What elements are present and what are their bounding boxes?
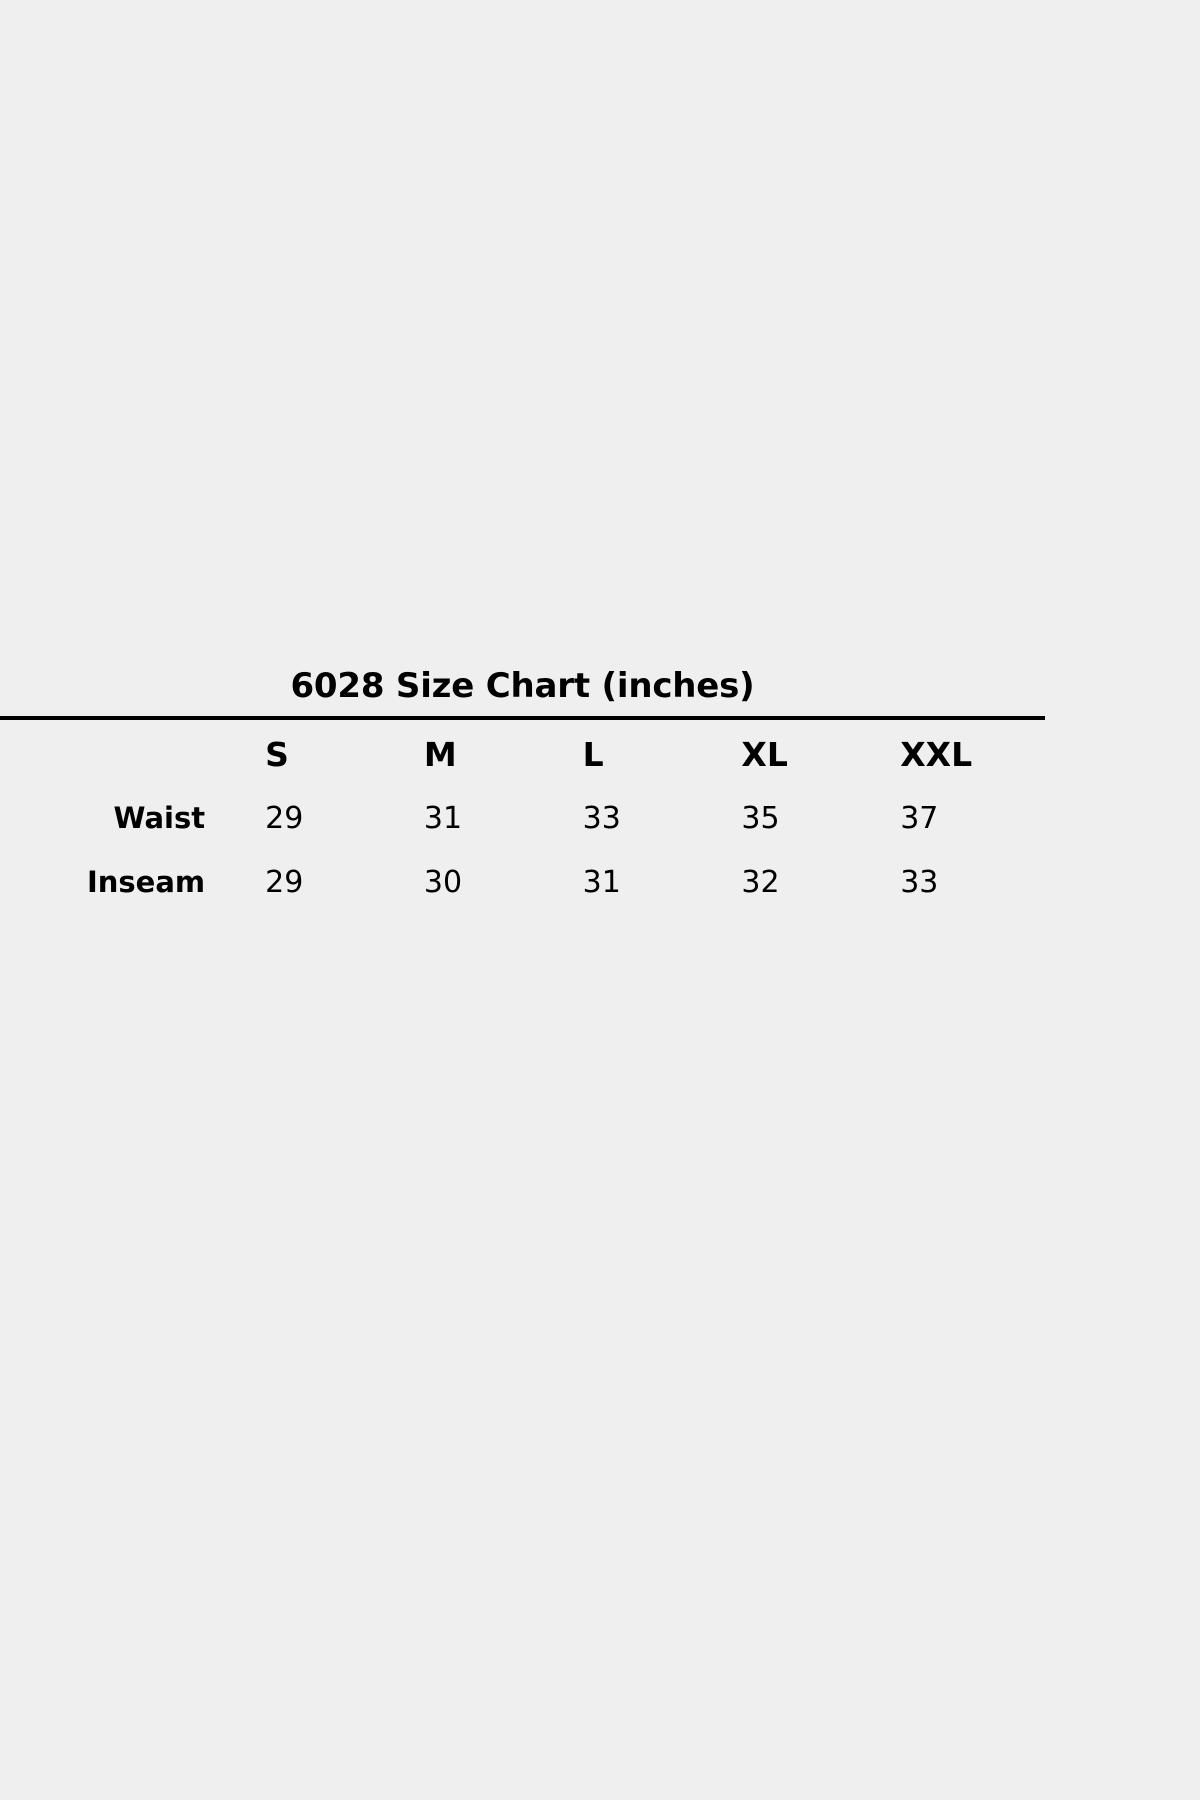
inseam-value-l: 31	[569, 850, 728, 914]
table-row: Inseam 29 30 31 32 33	[0, 850, 1045, 914]
row-label-inseam: Inseam	[0, 850, 251, 914]
inseam-value-m: 30	[410, 850, 569, 914]
table-header-row: S M L XL XXL	[0, 722, 1045, 786]
column-header-m: M	[410, 722, 569, 786]
table-row: Waist 29 31 33 35 37	[0, 786, 1045, 850]
header-divider-rule	[0, 716, 1045, 720]
row-label-waist: Waist	[0, 786, 251, 850]
waist-value-m: 31	[410, 786, 569, 850]
inseam-value-xl: 32	[727, 850, 886, 914]
waist-value-xl: 35	[727, 786, 886, 850]
chart-title: 6028 Size Chart (inches)	[0, 664, 1045, 708]
column-header-l: L	[569, 722, 728, 786]
waist-value-s: 29	[251, 786, 410, 850]
column-header-xxl: XXL	[886, 722, 1045, 786]
inseam-value-s: 29	[251, 850, 410, 914]
size-chart-table: S M L XL XXL Waist 29 31 33 35 37 Inseam…	[0, 722, 1045, 914]
table-corner-header	[0, 722, 251, 786]
waist-value-l: 33	[569, 786, 728, 850]
waist-value-xxl: 37	[886, 786, 1045, 850]
inseam-value-xxl: 33	[886, 850, 1045, 914]
size-chart-container: 6028 Size Chart (inches) S M L XL XXL Wa…	[0, 0, 1045, 1800]
column-header-s: S	[251, 722, 410, 786]
column-header-xl: XL	[727, 722, 886, 786]
